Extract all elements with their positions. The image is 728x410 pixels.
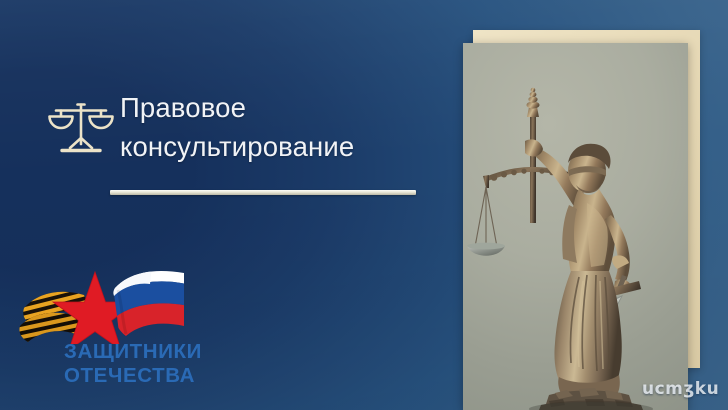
statue-head <box>568 144 611 193</box>
scales-left-pan <box>467 187 505 256</box>
emblem-word-2: ОТЕЧЕСТВА <box>64 364 234 388</box>
watermark: ucmʒku <box>642 379 719 399</box>
statue-torso <box>562 189 615 273</box>
emblem-text: ЗАЩИТНИКИ ОТЕЧЕСТВА <box>64 340 234 387</box>
scales-of-justice-icon <box>48 98 114 156</box>
title-line-2: консультирование <box>120 127 440 166</box>
title-lines: Правовое консультирование <box>120 88 440 166</box>
lady-justice-statue-figure <box>463 43 688 410</box>
russian-flag-ribbon-icon <box>108 262 198 342</box>
statue-robe <box>554 271 621 397</box>
emblem-word-1: ЗАЩИТНИКИ <box>64 340 234 364</box>
title-underline-rule <box>110 190 416 195</box>
banner-slide: Правовое консультирование <box>0 0 728 410</box>
emblem-graphic <box>18 262 198 344</box>
zashchitniki-otechestva-logo: ЗАЩИТНИКИ ОТЕЧЕСТВА <box>18 262 234 394</box>
lady-justice-statue-photo <box>463 43 688 410</box>
title-line-1: Правовое <box>120 88 440 127</box>
